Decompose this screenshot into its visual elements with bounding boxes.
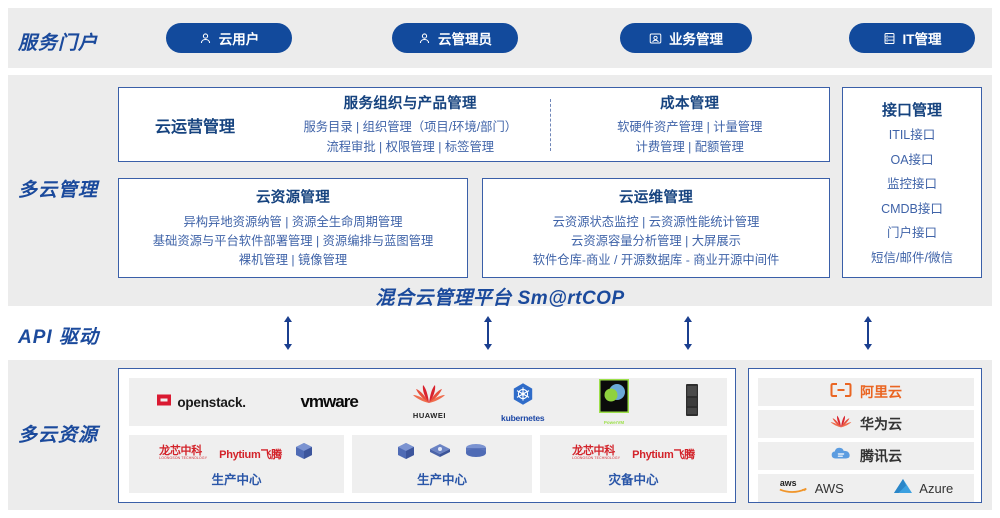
vendor-huawei[interactable]: HUAWEI	[412, 384, 446, 420]
box-line: 云资源状态监控 | 云资源性能统计管理	[553, 213, 760, 232]
server-cube-icon	[294, 441, 314, 466]
datacenter-row: 龙芯中科 LOONGSON TECHNOLOGY Phytium飞腾 生产中心	[129, 435, 727, 493]
azure-icon	[893, 478, 913, 499]
box-line: 裸机管理 | 镜像管理	[239, 251, 347, 270]
double-arrow-icon	[281, 316, 295, 350]
box-line: 云资源容量分析管理 | 大屏展示	[571, 232, 741, 251]
public-cloud-aws[interactable]: aws AWS	[779, 477, 844, 500]
storage-disk-icon	[464, 443, 488, 464]
datacenter-name: 生产中心	[417, 469, 467, 488]
huawei-flower-icon	[412, 384, 446, 409]
double-arrow-icon	[481, 316, 495, 350]
cloud-resource-management-box[interactable]: 云资源管理 异构异地资源纳管 | 资源全生命周期管理 基础资源与平台软件部署管理…	[118, 178, 468, 278]
cloud-operations-title: 云运营管理	[119, 113, 271, 137]
interface-item-oa[interactable]: OA接口	[843, 154, 981, 167]
column-line: 服务目录 | 组织管理（项目/环境/部门）	[277, 118, 544, 137]
datacenter-production-1[interactable]: 龙芯中科 LOONGSON TECHNOLOGY Phytium飞腾 生产中心	[129, 435, 344, 493]
powervm-icon	[599, 379, 629, 418]
box-title: 云资源管理	[256, 186, 330, 207]
switch-icon	[428, 442, 452, 465]
server-cube-icon	[396, 441, 416, 466]
service-portal-label: 服务门户	[18, 28, 98, 55]
box-line: 软件仓库-商业 / 开源数据库 - 商业开源中间件	[533, 251, 780, 270]
vendor-logo-row: openstack. vmware HUAWEI	[129, 378, 727, 426]
vendor-label: PowerVM	[604, 420, 624, 425]
public-cloud-label: 华为云	[860, 414, 902, 434]
portal-button-label: IT管理	[903, 28, 942, 48]
portal-button-cloud-admin[interactable]: 云管理员	[392, 23, 518, 53]
datacenter-name: 生产中心	[211, 469, 261, 488]
private-cloud-resources-box[interactable]: openstack. vmware HUAWEI	[118, 368, 736, 503]
aws-icon: aws	[779, 477, 809, 500]
cloud-operations-box[interactable]: 云运营管理 服务组织与产品管理 服务目录 | 组织管理（项目/环境/部门） 流程…	[118, 87, 830, 162]
vendor-powervm[interactable]: PowerVM	[599, 379, 629, 425]
public-cloud-label: 腾讯云	[860, 446, 902, 466]
box-title: 云运维管理	[619, 186, 693, 207]
portal-button-business-management[interactable]: 业务管理	[620, 23, 752, 53]
box-title: 接口管理	[843, 99, 981, 120]
datacenter-name: 灾备中心	[608, 469, 658, 488]
phytium-logo: Phytium飞腾	[219, 446, 282, 462]
public-cloud-label: Azure	[919, 481, 953, 496]
portal-button-cloud-user[interactable]: 云用户	[166, 23, 292, 53]
column-line: 软硬件资产管理 | 计量管理	[557, 118, 824, 137]
portal-button-label: 业务管理	[669, 28, 723, 48]
server-icon	[883, 32, 896, 45]
server-rack-icon	[684, 383, 700, 422]
interface-item-itil[interactable]: ITIL接口	[843, 129, 981, 142]
phytium-logo: Phytium飞腾	[632, 446, 695, 462]
public-cloud-azure[interactable]: Azure	[893, 478, 953, 499]
vendor-openstack[interactable]: openstack.	[156, 392, 246, 413]
double-arrow-icon	[681, 316, 695, 350]
svg-text:aws: aws	[780, 478, 797, 488]
multi-cloud-resource-label: 多云资源	[18, 420, 98, 447]
public-cloud-label: AWS	[815, 481, 844, 496]
loongson-logo: 龙芯中科 LOONGSON TECHNOLOGY	[572, 446, 620, 460]
double-arrow-icon	[861, 316, 875, 350]
datacenter-production-2[interactable]: 生产中心	[352, 435, 532, 493]
box-line: 基础资源与平台软件部署管理 | 资源编排与蓝图管理	[153, 232, 434, 251]
user-icon	[199, 32, 212, 45]
datacenter-disaster-recovery[interactable]: 龙芯中科 LOONGSON TECHNOLOGY Phytium飞腾 灾备中心	[540, 435, 727, 493]
platform-title: 混合云管理平台 Sm@rtCOP	[0, 283, 1000, 310]
portal-button-it-management[interactable]: IT管理	[849, 23, 975, 53]
user-icon	[418, 32, 431, 45]
vendor-label: openstack.	[177, 395, 246, 410]
public-cloud-huawei[interactable]: 华为云	[758, 410, 974, 438]
api-driven-label: API 驱动	[18, 322, 99, 349]
column-title: 服务组织与产品管理	[277, 92, 544, 113]
multi-cloud-management-label: 多云管理	[18, 175, 98, 202]
loongson-logo: 龙芯中科 LOONGSON TECHNOLOGY	[159, 446, 207, 460]
column-line: 流程审批 | 权限管理 | 标签管理	[277, 138, 544, 157]
vendor-kubernetes[interactable]: kubernetes	[501, 382, 544, 423]
interface-item-sms-mail-wechat[interactable]: 短信/邮件/微信	[843, 252, 981, 265]
interface-management-box[interactable]: 接口管理 ITIL接口 OA接口 监控接口 CMDB接口 门户接口 短信/邮件/…	[842, 87, 982, 278]
public-cloud-tencent[interactable]: 腾讯云	[758, 442, 974, 470]
interface-item-cmdb[interactable]: CMDB接口	[843, 203, 981, 216]
vendor-server-rack[interactable]	[684, 383, 700, 422]
public-cloud-aws-azure-row: aws AWS Azure	[758, 474, 974, 502]
public-cloud-resources-box[interactable]: 阿里云 华为云 腾讯云 aws	[748, 368, 982, 503]
public-cloud-alibaba[interactable]: 阿里云	[758, 378, 974, 406]
window-icon	[649, 32, 662, 45]
interface-item-portal[interactable]: 门户接口	[843, 227, 981, 240]
vendor-vmware[interactable]: vmware	[300, 392, 357, 412]
column-title: 成本管理	[557, 92, 824, 113]
cloud-oam-management-box[interactable]: 云运维管理 云资源状态监控 | 云资源性能统计管理 云资源容量分析管理 | 大屏…	[482, 178, 830, 278]
public-cloud-label: 阿里云	[860, 382, 902, 402]
api-driven-band	[8, 310, 992, 355]
portal-button-label: 云用户	[219, 28, 260, 48]
cost-management-column[interactable]: 成本管理 软硬件资产管理 | 计量管理 计费管理 | 配额管理	[551, 92, 830, 156]
vendor-label: HUAWEI	[413, 411, 446, 420]
portal-button-label: 云管理员	[438, 28, 492, 48]
vendor-label: vmware	[300, 392, 357, 412]
tencent-cloud-icon	[830, 446, 852, 467]
openstack-icon	[156, 392, 172, 413]
column-line: 计费管理 | 配额管理	[557, 138, 824, 157]
huawei-cloud-icon	[830, 414, 852, 434]
vendor-label: kubernetes	[501, 413, 544, 423]
service-org-product-column[interactable]: 服务组织与产品管理 服务目录 | 组织管理（项目/环境/部门） 流程审批 | 权…	[271, 92, 550, 156]
interface-item-monitor[interactable]: 监控接口	[843, 178, 981, 191]
alibaba-cloud-icon	[830, 382, 852, 403]
box-line: 异构异地资源纳管 | 资源全生命周期管理	[183, 213, 402, 232]
kubernetes-icon	[511, 382, 535, 411]
